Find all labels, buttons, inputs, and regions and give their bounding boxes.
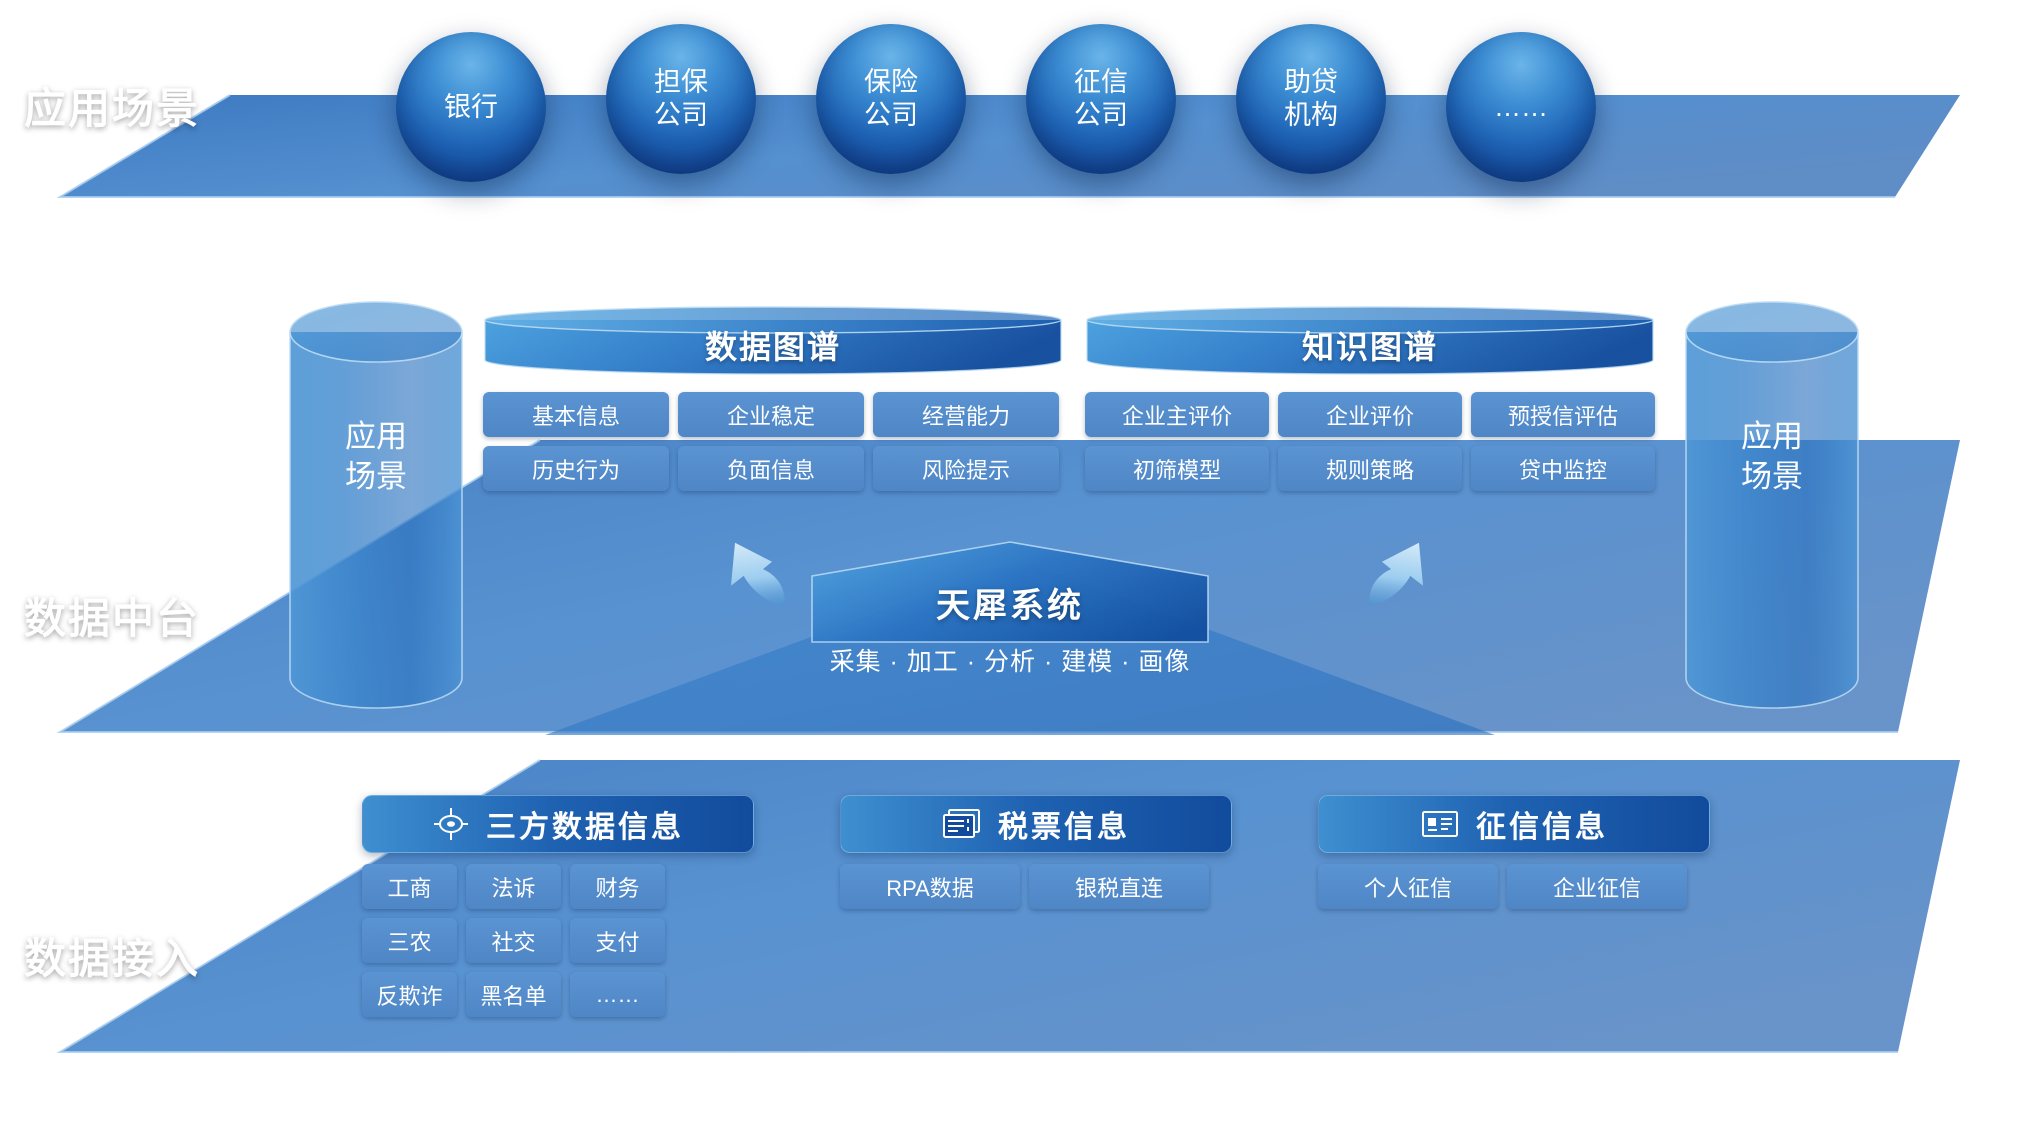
invoice-stack-icon	[942, 808, 982, 840]
sphere-insurance-company[interactable]: 保险 公司	[816, 24, 966, 174]
card-tax-invoice-body: RPA数据 银税直连	[840, 864, 1232, 909]
chip-basic-info[interactable]: 基本信息	[483, 392, 669, 437]
sphere-line: 担保	[654, 66, 708, 99]
sphere-line: 银行	[444, 91, 498, 124]
card-credit-report-body: 个人征信 企业征信	[1318, 864, 1710, 909]
chip-more[interactable]: ……	[570, 972, 665, 1017]
architecture-diagram: 应用场景 数据中台 数据接入 银行 担保 公司 保险 公司 征信 公司 助贷 机…	[0, 0, 2023, 1130]
chip-operating-capability[interactable]: 经营能力	[873, 392, 1059, 437]
card-third-party-data-header[interactable]: 三方数据信息	[362, 795, 754, 853]
sphere-line: 公司	[864, 99, 918, 132]
sphere-more[interactable]: ……	[1446, 32, 1596, 182]
card-credit-report-header[interactable]: 征信信息	[1318, 795, 1710, 853]
sphere-line: 保险	[864, 66, 918, 99]
card-tax-invoice-header[interactable]: 税票信息	[840, 795, 1232, 853]
chip-pre-credit-assessment[interactable]: 预授信评估	[1471, 392, 1655, 437]
chip-litigation[interactable]: 法诉	[466, 864, 561, 909]
drum-data-graph[interactable]: 数据图谱	[483, 306, 1063, 376]
chip-blacklist[interactable]: 黑名单	[466, 972, 561, 1017]
sphere-bank[interactable]: 银行	[396, 32, 546, 182]
chip-row: 三农 社交 支付	[362, 918, 754, 963]
sphere-credit-company[interactable]: 征信 公司	[1026, 24, 1176, 174]
cylinder-application-right[interactable]: 应用 场景	[1684, 302, 1860, 708]
chip-row: 历史行为 负面信息 风险提示	[483, 446, 1059, 491]
chip-enterprise-evaluation[interactable]: 企业评价	[1278, 392, 1462, 437]
chip-row: 反欺诈 黑名单 ……	[362, 972, 754, 1017]
sphere-line: 机构	[1284, 99, 1338, 132]
chips-data-graph: 基本信息 企业稳定 经营能力 历史行为 负面信息 风险提示	[483, 392, 1059, 491]
chip-screening-model[interactable]: 初筛模型	[1085, 446, 1269, 491]
cylinder-left-label: 应用 场景	[288, 417, 464, 498]
card-credit-report-title: 征信信息	[1476, 802, 1608, 846]
card-tax-invoice-title: 税票信息	[998, 802, 1130, 846]
chip-business-registration[interactable]: 工商	[362, 864, 457, 909]
chip-row: 工商 法诉 财务	[362, 864, 754, 909]
chip-risk-alert[interactable]: 风险提示	[873, 446, 1059, 491]
cyl-line: 场景	[1741, 459, 1803, 494]
chip-personal-credit[interactable]: 个人征信	[1318, 864, 1498, 909]
sphere-line: 征信	[1074, 66, 1128, 99]
system-banner-subtitle: 采集 · 加工 · 分析 · 建模 · 画像	[690, 642, 1330, 678]
chip-historical-behavior[interactable]: 历史行为	[483, 446, 669, 491]
chip-rule-strategy[interactable]: 规则策略	[1278, 446, 1462, 491]
section-title-application: 应用场景	[24, 75, 200, 136]
section-title-middle: 数据中台	[24, 585, 200, 646]
cyl-line: 场景	[345, 459, 407, 494]
card-third-party-data-title: 三方数据信息	[486, 802, 684, 846]
card-credit-report[interactable]: 征信信息 个人征信 企业征信	[1318, 795, 1710, 909]
card-third-party-data-body: 工商 法诉 财务 三农 社交 支付 反欺诈 黑名单 ……	[362, 864, 754, 1017]
chip-row: RPA数据 银税直连	[840, 864, 1232, 909]
chip-rpa-data[interactable]: RPA数据	[840, 864, 1020, 909]
chip-negative-info[interactable]: 负面信息	[678, 446, 864, 491]
chip-payment[interactable]: 支付	[570, 918, 665, 963]
chip-owner-evaluation[interactable]: 企业主评价	[1085, 392, 1269, 437]
chip-row: 企业主评价 企业评价 预授信评估	[1085, 392, 1655, 437]
chip-bank-tax-link[interactable]: 银税直连	[1029, 864, 1209, 909]
chip-agriculture[interactable]: 三农	[362, 918, 457, 963]
cyl-line: 应用	[345, 419, 407, 454]
sphere-line: 公司	[1074, 99, 1128, 132]
chip-row: 初筛模型 规则策略 贷中监控	[1085, 446, 1655, 491]
sphere-line: ……	[1494, 91, 1548, 124]
chip-row: 基本信息 企业稳定 经营能力	[483, 392, 1059, 437]
section-title-access: 数据接入	[24, 925, 200, 986]
platform-application	[60, 95, 1960, 205]
chip-anti-fraud[interactable]: 反欺诈	[362, 972, 457, 1017]
system-banner-tianxi[interactable]: 天犀系统	[810, 540, 1210, 650]
sphere-loan-agency[interactable]: 助贷 机构	[1236, 24, 1386, 174]
system-banner-title: 天犀系统	[810, 578, 1210, 627]
chip-enterprise-credit[interactable]: 企业征信	[1507, 864, 1687, 909]
cylinder-application-left[interactable]: 应用 场景	[288, 302, 464, 708]
chip-row: 个人征信 企业征信	[1318, 864, 1710, 909]
cyl-line: 应用	[1741, 419, 1803, 454]
chip-social[interactable]: 社交	[466, 918, 561, 963]
ribbon-arrow-right-icon	[1322, 522, 1442, 642]
sphere-guarantee-company[interactable]: 担保 公司	[606, 24, 756, 174]
card-tax-invoice[interactable]: 税票信息 RPA数据 银税直连	[840, 795, 1232, 909]
drum-knowledge-graph[interactable]: 知识图谱	[1085, 306, 1655, 376]
cylinder-right-label: 应用 场景	[1684, 417, 1860, 498]
sphere-line: 助贷	[1284, 66, 1338, 99]
drum-data-graph-title: 数据图谱	[483, 322, 1063, 368]
chip-enterprise-stability[interactable]: 企业稳定	[678, 392, 864, 437]
drum-knowledge-graph-title: 知识图谱	[1085, 322, 1655, 368]
chip-finance[interactable]: 财务	[570, 864, 665, 909]
sphere-line: 公司	[654, 99, 708, 132]
crosshair-target-icon	[432, 805, 470, 843]
chips-knowledge-graph: 企业主评价 企业评价 预授信评估 初筛模型 规则策略 贷中监控	[1085, 392, 1655, 491]
chip-loan-monitoring[interactable]: 贷中监控	[1471, 446, 1655, 491]
card-third-party-data[interactable]: 三方数据信息 工商 法诉 财务 三农 社交 支付 反欺诈 黑名单 ……	[362, 795, 754, 1017]
id-card-icon	[1420, 808, 1460, 840]
